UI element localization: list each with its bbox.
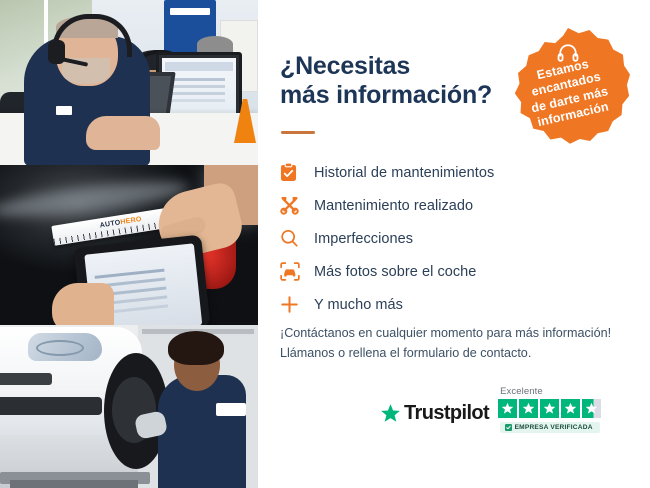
feature-label: Historial de mantenimientos <box>314 165 494 181</box>
trustpilot-star-5-partial <box>582 399 601 418</box>
photo3-uniform-logo <box>216 403 246 416</box>
photo3-lower-grille <box>0 397 102 415</box>
car-scan-icon <box>280 262 314 281</box>
starburst-badge: Estamos encantados de darte más informac… <box>506 28 630 152</box>
contact-line-2: Llámanos o rellena el formulario de cont… <box>280 344 640 364</box>
feature-item-imperfections: Imperfecciones <box>280 222 630 255</box>
photo-mechanic-inspecting-wheel <box>0 325 258 488</box>
plus-icon <box>280 295 314 314</box>
photo3-mechanic-hair <box>168 331 224 365</box>
photo2-hand-holding-tablet <box>52 283 114 325</box>
trustpilot-wordmark: Trustpilot <box>404 402 489 425</box>
contact-copy: ¡Contáctanos en cualquier momento para m… <box>280 324 640 363</box>
feature-list: Historial de mantenimientos Mantenimient… <box>280 156 630 321</box>
photo-column: AUTOHERO <box>0 0 258 488</box>
trustpilot-rating: Trustpilot Excelente <box>380 386 630 433</box>
trustpilot-star-icon <box>380 403 401 424</box>
verified-company-badge: EMPRESA VERIFICADA <box>500 422 600 433</box>
trustpilot-logo: Trustpilot <box>380 402 489 433</box>
photo1-arm <box>86 116 160 150</box>
tools-cross-icon <box>280 196 314 215</box>
magnifier-icon <box>280 229 314 248</box>
title-underline-rule <box>281 131 315 134</box>
content-panel: ¿Necesitas más información? Estamos enca… <box>258 0 650 488</box>
feature-item-much-more: Y mucho más <box>280 288 630 321</box>
photo-call-center-agents-with-headsets <box>0 0 258 165</box>
trustpilot-star-3 <box>540 399 559 418</box>
feature-label: Imperfecciones <box>314 231 413 247</box>
feature-label: Más fotos sobre el coche <box>314 264 476 280</box>
information-poster: AUTOHERO <box>0 0 650 488</box>
verified-company-label: EMPRESA VERIFICADA <box>515 424 593 431</box>
page-title: ¿Necesitas más información? <box>280 52 530 109</box>
clipboard-check-icon <box>280 163 314 182</box>
page-title-line-1: ¿Necesitas <box>280 52 530 81</box>
feature-label: Y mucho más <box>314 297 403 313</box>
trustpilot-star-1 <box>498 399 517 418</box>
photo3-lift-base <box>10 480 138 488</box>
feature-item-more-photos: Más fotos sobre el coche <box>280 255 630 288</box>
photo3-upper-grille <box>0 373 52 385</box>
photo3-headlight <box>28 333 102 361</box>
trustpilot-score-block: Excelente <box>498 386 601 433</box>
feature-label: Mantenimiento realizado <box>314 198 473 214</box>
trustpilot-stars <box>498 399 601 418</box>
page-title-line-2: más información? <box>280 81 530 110</box>
feature-item-maintenance-history: Historial de mantenimientos <box>280 156 630 189</box>
photo1-name-badge <box>56 106 72 115</box>
trustpilot-rating-label: Excelente <box>500 386 543 397</box>
trustpilot-star-2 <box>519 399 538 418</box>
photo-autohero-ruler-measuring-car: AUTOHERO <box>0 165 258 325</box>
feature-item-maintenance-done: Mantenimiento realizado <box>280 189 630 222</box>
verified-check-icon <box>505 424 512 431</box>
photo1-hair-background <box>197 36 233 52</box>
trustpilot-star-4 <box>561 399 580 418</box>
contact-line-1: ¡Contáctanos en cualquier momento para m… <box>280 324 640 344</box>
